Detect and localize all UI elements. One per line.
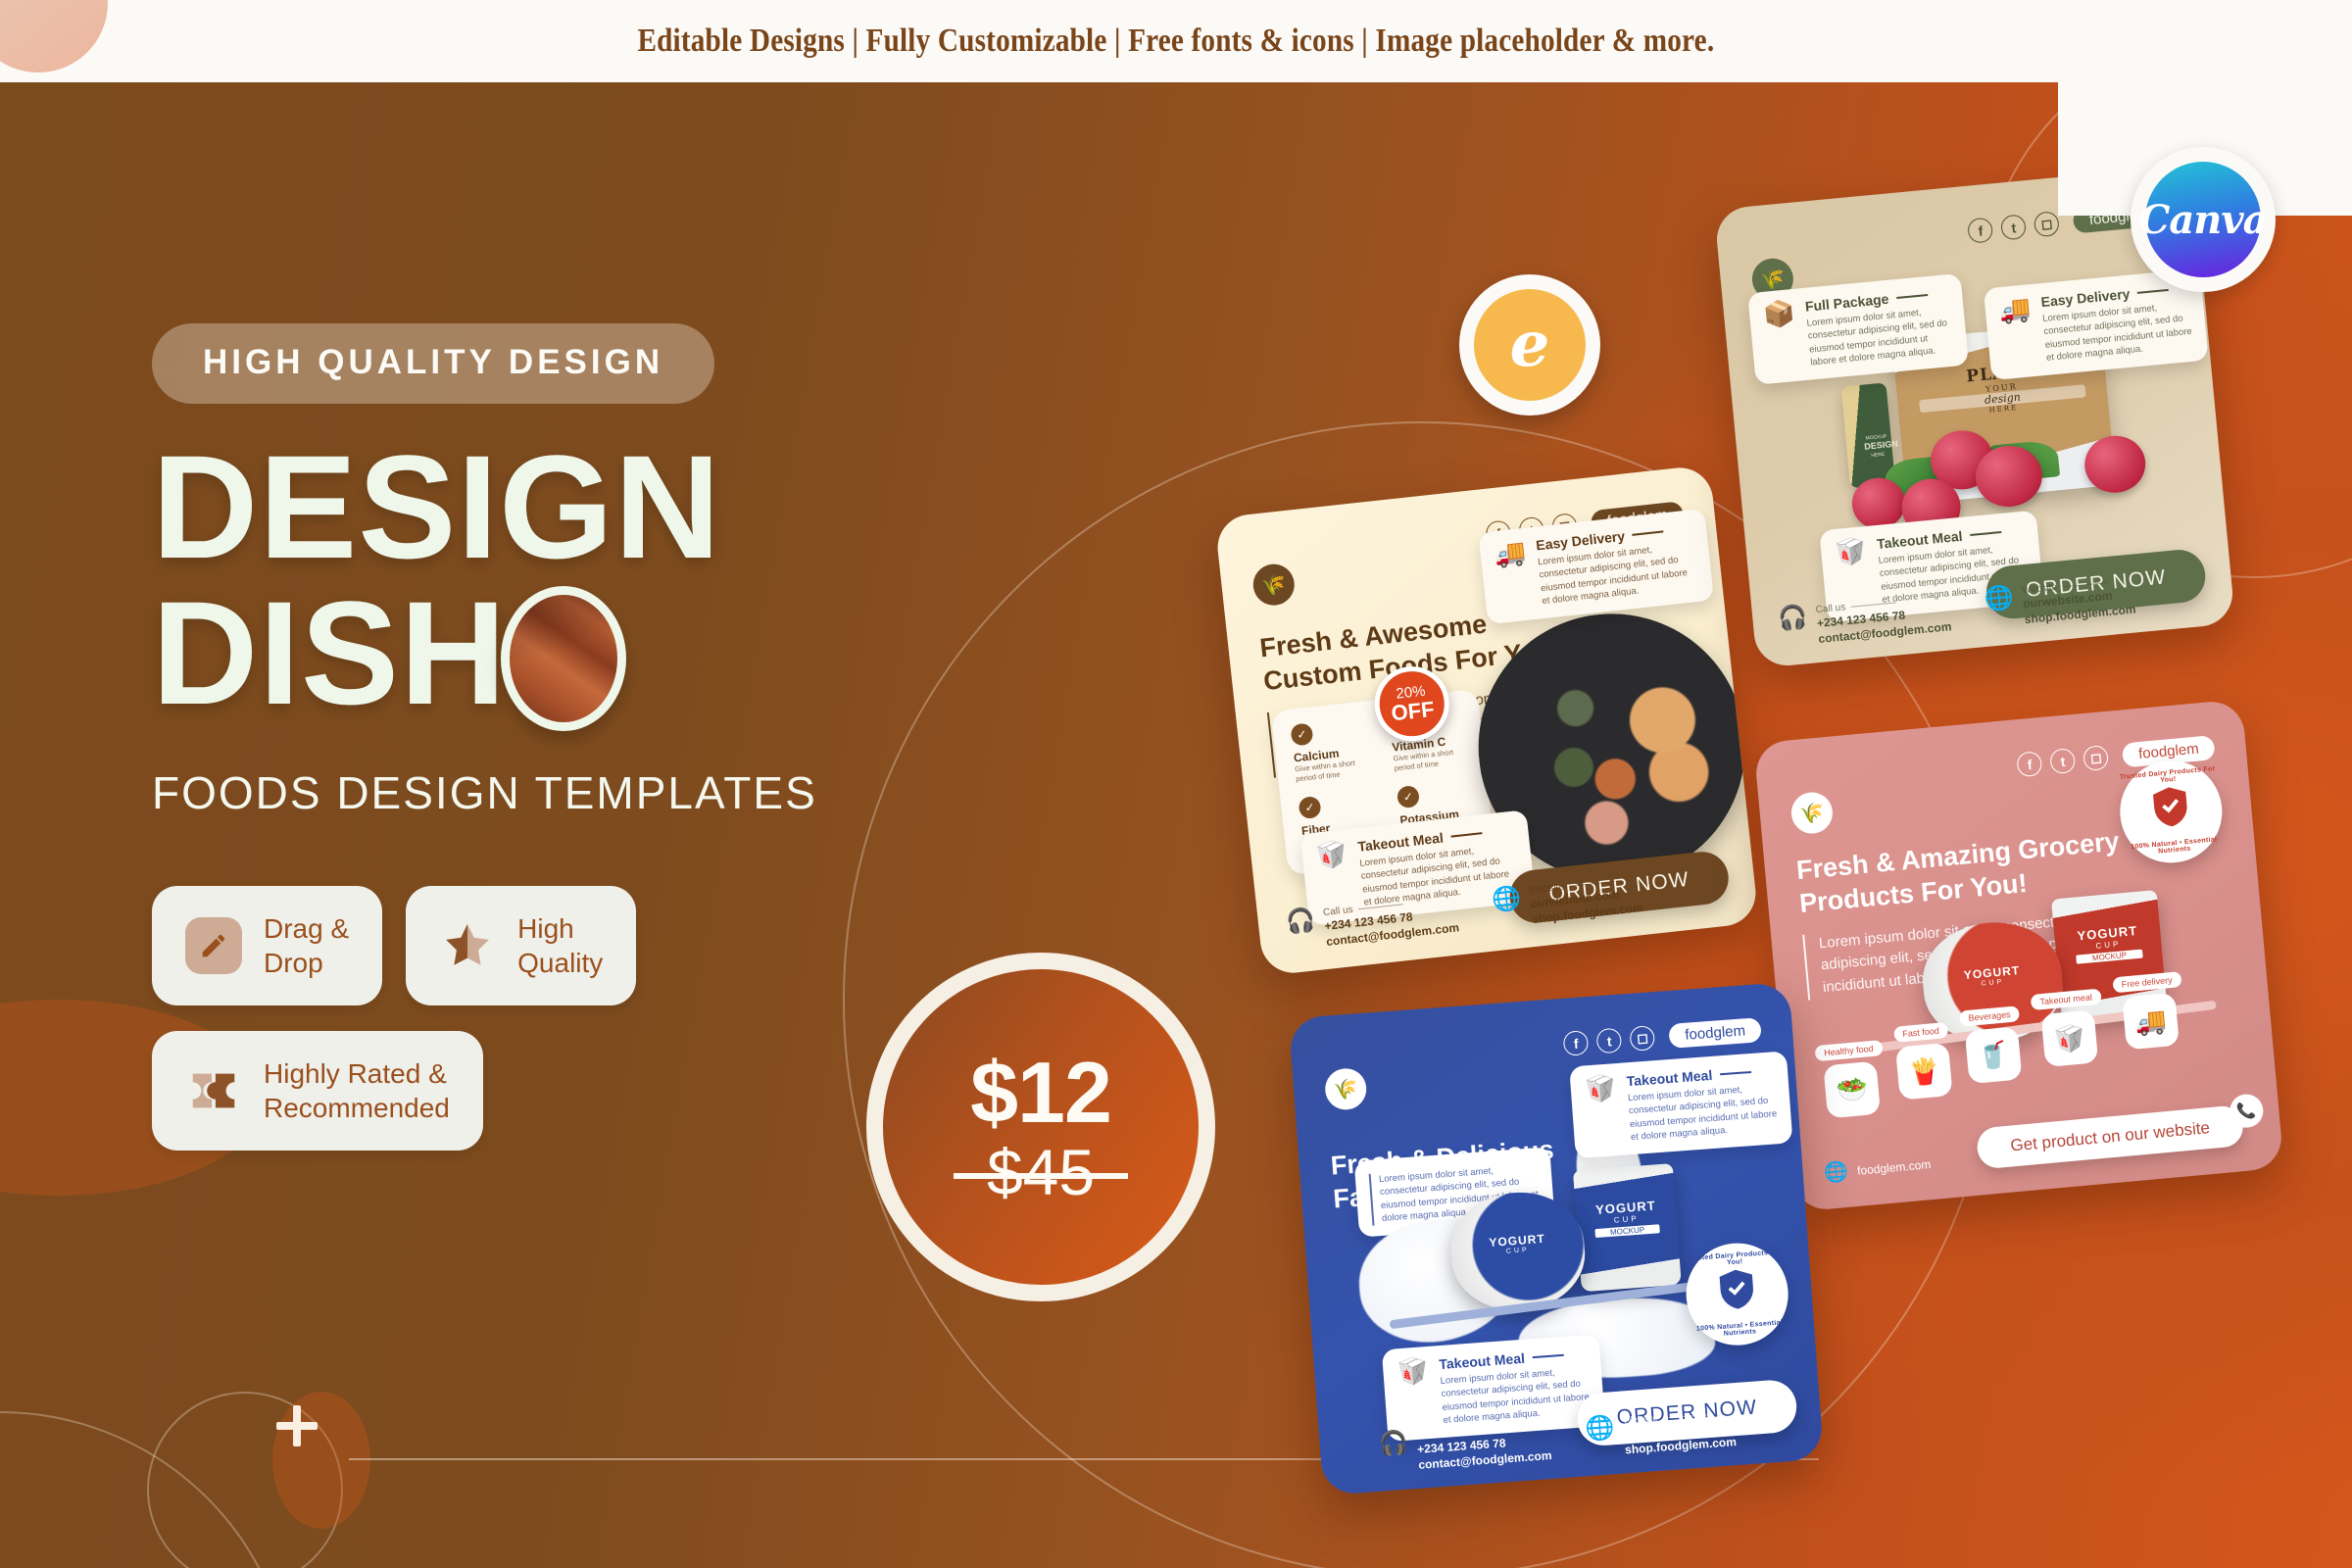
- globe-icon: 🌐: [1491, 886, 1522, 912]
- badge-icon: [185, 1062, 242, 1119]
- category-free-delivery[interactable]: Free delivery 🚚: [2112, 969, 2187, 1051]
- category-label: Takeout meal: [2031, 989, 2102, 1010]
- canva-logo-text: Canva: [2139, 197, 2268, 243]
- seal-bottom-text: 100% Natural • Essential Nutrients: [1689, 1319, 1791, 1341]
- product-line-3: MOCKUP: [2076, 950, 2143, 964]
- takeout-box-icon: 🥡: [1315, 840, 1354, 913]
- twitter-icon[interactable]: t: [2000, 214, 2027, 240]
- headline-line-2: DISH: [152, 585, 507, 722]
- feature-label-l2: Drop: [264, 946, 349, 980]
- hero-subtitle: FOODS DESIGN TEMPLATES: [152, 766, 1034, 819]
- twitter-icon[interactable]: t: [2049, 748, 2076, 774]
- price-original: $45: [987, 1140, 1095, 1204]
- category-label: Healthy food: [1815, 1040, 1884, 1061]
- headline-line-1: DESIGN: [152, 439, 1034, 576]
- globe-icon: 🌐: [1585, 1416, 1616, 1442]
- support-headset-icon: 🎧: [1285, 908, 1316, 935]
- twitter-icon[interactable]: t: [1596, 1028, 1623, 1054]
- website-text: foodglem.com: [1856, 1157, 1931, 1178]
- info-chip-takeout-meal-top: 🥡 Takeout Meal Lorem ipsum dolor sit ame…: [1569, 1051, 1792, 1158]
- plus-icon: [274, 1403, 319, 1448]
- feature-label-l2: Recommended: [264, 1091, 450, 1125]
- support-headset-icon: 🎧: [1378, 1431, 1409, 1456]
- feature-label-l2: Quality: [517, 946, 603, 980]
- template-card-farm-yogurt[interactable]: f t ◻ foodglem 🌾 Fresh & Delicious Farm …: [1289, 982, 1824, 1495]
- chip-text: Lorem ipsum dolor sit amet, consectetur …: [1806, 304, 1954, 369]
- package-icon: 📦: [1762, 300, 1800, 373]
- headline-row-2: DISH: [152, 576, 1034, 731]
- yogurt-cup-upright-mockup: YOGURT CUP MOCKUP: [1573, 1163, 1682, 1292]
- chip-text: Lorem ipsum dolor sit amet, consectetur …: [1628, 1081, 1779, 1144]
- feature-high-quality-label: High Quality: [517, 911, 603, 980]
- check-icon: ✓: [1396, 785, 1420, 808]
- takeout-box-icon: 🥡: [1396, 1357, 1434, 1430]
- drink-burger-icon: 🥤: [1964, 1026, 2022, 1084]
- category-healthy-food[interactable]: Healthy food 🥗: [1814, 1038, 1887, 1119]
- promo-banner-text: Editable Designs | Fully Customizable | …: [638, 23, 1715, 60]
- feature-drag-drop-label: Drag & Drop: [264, 911, 349, 980]
- deco-blob-plus: [272, 1392, 370, 1529]
- elements-badge: e: [1459, 274, 1600, 416]
- contact-phone-group: 🎧 Call us +234 123 456 78 contact@foodgl…: [1777, 592, 1952, 651]
- instagram-icon[interactable]: ◻: [1630, 1025, 1656, 1052]
- nutrient-item: ✓ Calcium Give within a short period of …: [1290, 717, 1369, 785]
- category-label: Beverages: [1959, 1005, 2020, 1026]
- feature-high-quality[interactable]: High Quality: [406, 886, 636, 1005]
- chip-text: Lorem ipsum dolor sit amet, consectetur …: [2042, 299, 2194, 365]
- deco-ring-small: [147, 1392, 343, 1568]
- promo-banner: Editable Designs | Fully Customizable | …: [0, 0, 2352, 82]
- instagram-icon[interactable]: ◻: [2033, 211, 2060, 237]
- feature-highly-rated[interactable]: Highly Rated & Recommended: [152, 1031, 483, 1151]
- shield-check-icon: [2149, 784, 2193, 840]
- check-icon: ✓: [1298, 796, 1321, 819]
- globe-icon: 🌐: [1823, 1159, 1849, 1186]
- canyon-photo-placeholder: [501, 586, 626, 731]
- product-line-3: MOCKUP: [1594, 1224, 1659, 1238]
- check-icon: ✓: [1290, 722, 1313, 746]
- canva-badge: Canva: [2131, 147, 2276, 292]
- facebook-icon[interactable]: f: [1967, 217, 1993, 243]
- deco-ring-large: [0, 1411, 294, 1568]
- category-beverages[interactable]: Beverages 🥤: [1959, 1004, 2026, 1084]
- feature-highly-rated-label: Highly Rated & Recommended: [264, 1056, 450, 1125]
- delivery-truck-icon: 🚚: [1998, 295, 2036, 368]
- trust-seal-badge: Trusted Dairy Products For You! 100% Nat…: [2116, 757, 2227, 867]
- facebook-icon[interactable]: f: [2017, 751, 2043, 777]
- category-label: Free delivery: [2112, 971, 2181, 993]
- feature-label-l1: High: [517, 911, 603, 946]
- delivery-truck-icon: 🚚: [1493, 539, 1532, 612]
- shield-check-icon: [1716, 1266, 1759, 1322]
- category-label: Fast food: [1893, 1022, 1949, 1043]
- burger-fries-icon: 🍟: [1895, 1043, 1953, 1101]
- seal-top-text: Trusted Dairy Products For You!: [1684, 1249, 1787, 1270]
- support-headset-icon: 🎧: [1777, 606, 1808, 632]
- price-badge: $12 $45: [866, 953, 1215, 1301]
- elements-logo-text: e: [1510, 314, 1550, 376]
- feature-drag-drop[interactable]: Drag & Drop: [152, 886, 382, 1005]
- template-card-grocery[interactable]: f t ◻ foodglem 🌾 Fresh & Amazing Grocery…: [1753, 699, 2283, 1211]
- category-takeout-meal[interactable]: Takeout meal 🥡: [2031, 987, 2107, 1068]
- discount-label: OFF: [1390, 698, 1435, 725]
- template-card-custom-foods[interactable]: f t ◻ foodglem 🌾 Fresh & Awesome Custom …: [1214, 465, 1759, 976]
- chip-text: Lorem ipsum dolor sit amet, consectetur …: [1440, 1364, 1591, 1427]
- delivery-truck-icon: 🚚: [2122, 993, 2180, 1051]
- salad-bowl-icon: 🥗: [1824, 1061, 1882, 1119]
- quality-badge: HIGH QUALITY DESIGN: [152, 323, 714, 404]
- feature-row-1: Drag & Drop High: [152, 886, 1034, 1005]
- takeout-box-icon: 🥡: [1584, 1074, 1621, 1147]
- trust-seal-badge: Trusted Dairy Products For You! 100% Nat…: [1683, 1240, 1791, 1348]
- poster-canvas: Editable Designs | Fully Customizable | …: [0, 0, 2352, 1568]
- quality-badge-label: HIGH QUALITY DESIGN: [203, 343, 663, 381]
- price-current: $12: [970, 1050, 1111, 1136]
- globe-icon: 🌐: [1984, 586, 2015, 612]
- pencil-icon: [185, 917, 242, 974]
- feature-label-l1: Highly Rated &: [264, 1056, 450, 1091]
- contact-website-group: 🌐 Website ourwebsite.com shop.foodglem.c…: [1585, 1407, 1738, 1460]
- instagram-icon[interactable]: ◻: [2082, 745, 2109, 771]
- takeout-box-icon: 🥡: [2040, 1009, 2098, 1067]
- contact-phone-group: 🎧 Call us +234 123 456 78 contact@foodgl…: [1378, 1421, 1552, 1476]
- facebook-icon[interactable]: f: [1563, 1030, 1590, 1056]
- feature-label-l1: Drag &: [264, 911, 349, 946]
- brand-pill: foodglem: [1669, 1017, 1762, 1049]
- category-fast-food[interactable]: Fast food 🍟: [1892, 1020, 1953, 1101]
- site-row: 🌐 foodglem.com: [1823, 1151, 1932, 1186]
- leaf-logo-icon: 🌾: [1324, 1067, 1368, 1111]
- star-icon: [439, 917, 496, 974]
